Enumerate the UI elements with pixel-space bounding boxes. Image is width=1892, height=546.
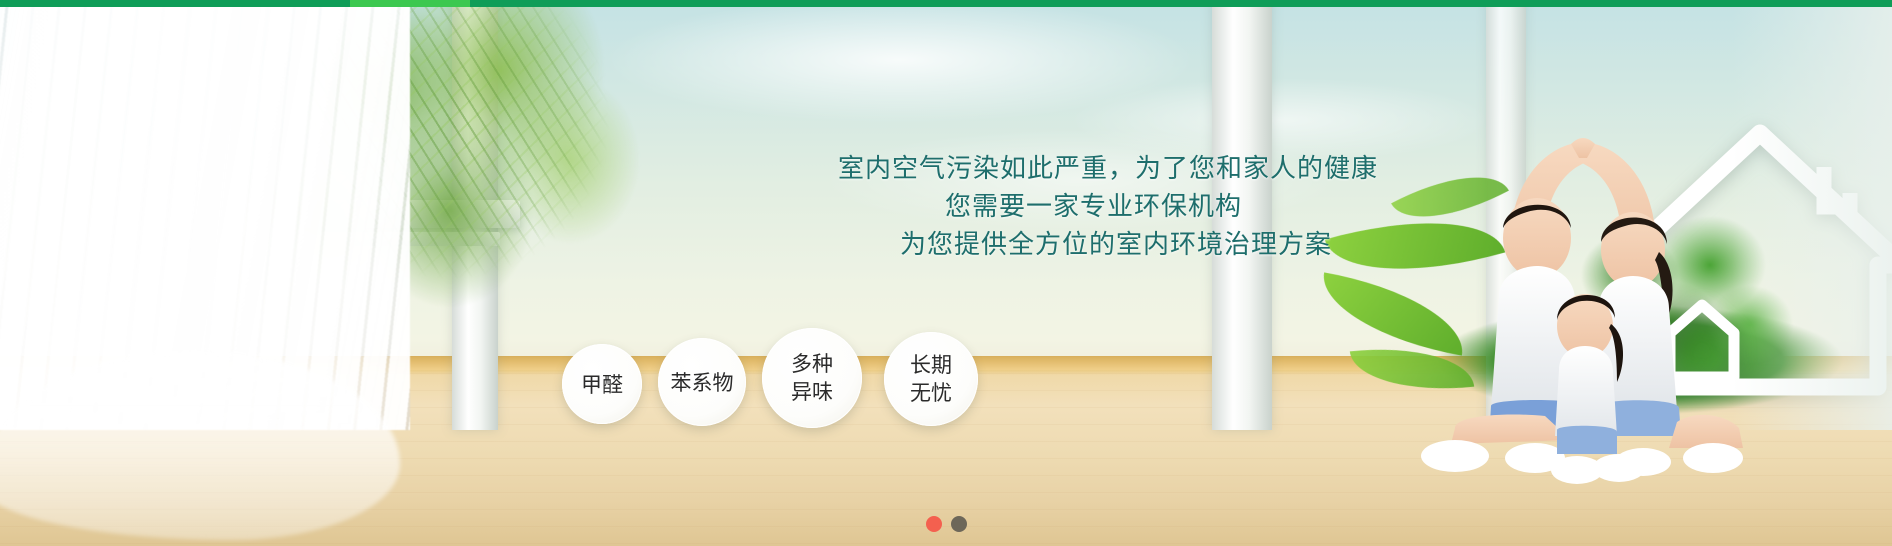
carousel-dot-1[interactable] — [926, 516, 942, 532]
carousel-dots — [0, 516, 1892, 532]
headline-line-3: 为您提供全方位的室内环境治理方案 — [0, 226, 1332, 264]
badge-formaldehyde[interactable]: 甲醛 — [562, 344, 642, 424]
headline-block: 室内空气污染如此严重，为了您和家人的健康 您需要一家专业环保机构 为您提供全方位… — [0, 150, 1378, 264]
feature-badges: 甲醛 苯系物 多种 异味 长期 无忧 — [562, 330, 1022, 440]
hero-banner: 室内空气污染如此严重，为了您和家人的健康 您需要一家专业环保机构 为您提供全方位… — [0, 0, 1892, 546]
badge-label: 苯系物 — [671, 367, 734, 397]
badge-label-top: 长期 — [910, 351, 952, 379]
carousel-dot-2[interactable] — [951, 516, 967, 532]
badge-multiple-odors[interactable]: 多种 异味 — [762, 328, 862, 428]
badge-benzene-series[interactable]: 苯系物 — [658, 338, 746, 426]
family-photo — [1395, 110, 1775, 510]
badge-label: 甲醛 — [581, 369, 623, 399]
headline-line-1: 室内空气污染如此严重，为了您和家人的健康 — [0, 150, 1378, 188]
badge-label-bottom: 异味 — [791, 378, 833, 406]
headline-line-2: 您需要一家专业环保机构 — [0, 188, 1242, 226]
top-accent-bar — [0, 0, 1892, 7]
badge-label-top: 多种 — [791, 350, 833, 378]
badge-long-term-worry-free[interactable]: 长期 无忧 — [884, 332, 978, 426]
badge-label-bottom: 无忧 — [910, 379, 952, 407]
top-accent-highlight — [350, 0, 470, 7]
